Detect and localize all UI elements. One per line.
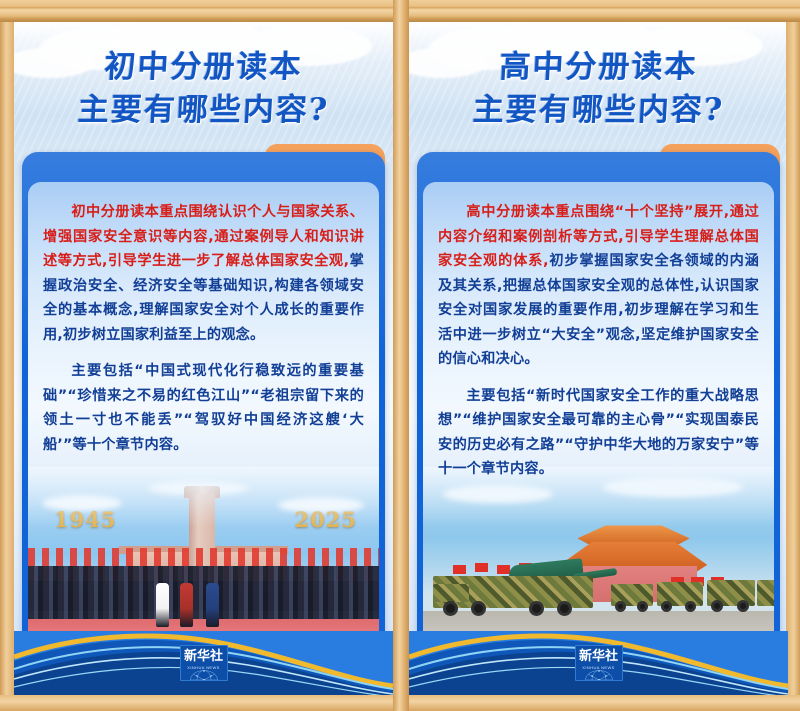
xinhua-logo-cn: 新华社 (181, 649, 227, 665)
paragraph-2: 主要包括“中国式现代化行稳致远的重要基础”“珍惜来之不易的红色江山”“老祖宗留下… (43, 359, 364, 457)
paragraph-1: 高中分册读本重点围绕“十个坚持”展开,通过内容介绍和案例剖析等方式,引导学生理解… (438, 200, 759, 372)
paragraph-1-red: 初中分册读本重点围绕认识个人与国家关系、增强国家安全意识等内容,通过案例导人和知… (43, 204, 364, 269)
honor-guard-blue (206, 583, 219, 627)
poster-root: 初中分册读本 主要有哪些内容? (0, 0, 800, 711)
body-text-senior: 高中分册读本重点围绕“十个坚持”展开,通过内容介绍和案例剖析等方式,引导学生理解… (423, 182, 774, 482)
cloud-icon (42, 495, 122, 511)
body-text-junior: 初中分册读本重点围绕认识个人与国家关系、增强国家安全意识等内容,通过案例导人和知… (28, 182, 379, 457)
frame-left-edge (0, 0, 14, 711)
title-line-1: 初中分册读本 (14, 46, 393, 89)
card-sheet: 1945 2025 初中分册读本重点围绕认识个人与国家关系、增强国家安全意识等内… (28, 182, 379, 670)
monument-cap (184, 486, 220, 498)
cloud-icon (148, 481, 248, 495)
card-blue-body: 1945 2025 初中分册读本重点围绕认识个人与国家关系、增强国家安全意识等内… (22, 152, 385, 670)
year-label-end: 2025 (295, 507, 357, 532)
title-line-2: 主要有哪些内容? (14, 89, 393, 132)
title-line-1: 高中分册读本 (409, 46, 788, 89)
frame-divider (393, 0, 409, 711)
red-flag-icon (453, 565, 466, 574)
honor-guard-white (156, 583, 169, 627)
wave-decoration-left: 新华社 XINHUA NEWS (14, 631, 393, 695)
globe-icon (584, 669, 614, 681)
title-line-2: 主要有哪些内容? (409, 89, 788, 132)
panel-junior-high: 初中分册读本 主要有哪些内容? (14, 22, 393, 695)
cloud-icon (443, 485, 553, 503)
card-blue-body: 高中分册读本重点围绕“十个坚持”展开,通过内容介绍和案例剖析等方式,引导学生理解… (417, 152, 780, 670)
page-title-senior: 高中分册读本 主要有哪些内容? (409, 46, 788, 132)
red-flag-icon (497, 565, 510, 574)
year-label-start: 1945 (54, 507, 116, 532)
honor-guard-navy (180, 583, 193, 627)
paragraph-1-blue: 初步掌握国家安全各领域的内涵及其关系,把握总体国家安全观的总体性,认识国家安全对… (438, 253, 759, 367)
content-card-senior: 高中分册读本重点围绕“十个坚持”展开,通过内容介绍和案例剖析等方式,引导学生理解… (417, 144, 780, 674)
cloud-icon (278, 497, 364, 513)
page-title-junior: 初中分册读本 主要有哪些内容? (14, 46, 393, 132)
xinhua-logo-left: 新华社 XINHUA NEWS (180, 645, 228, 681)
wave-decoration-right: 新华社 XINHUA NEWS (409, 631, 788, 695)
convoy-truck (757, 580, 774, 606)
paragraph-2: 主要包括“新时代国家安全工作的重大战略思想”“维护国家安全最可靠的主心骨”“实现… (438, 384, 759, 482)
globe-icon (189, 669, 219, 681)
xinhua-logo-right: 新华社 XINHUA NEWS (575, 645, 623, 681)
frame-right-edge (786, 0, 800, 711)
xinhua-logo-cn: 新华社 (576, 649, 622, 665)
red-flag-icon (475, 563, 488, 572)
paragraph-1: 初中分册读本重点围绕认识个人与国家关系、增强国家安全意识等内容,通过案例导人和知… (43, 200, 364, 347)
panel-senior-high: 高中分册读本 主要有哪些内容? (409, 22, 788, 695)
card-sheet: 高中分册读本重点围绕“十个坚持”展开,通过内容介绍和案例剖析等方式,引导学生理解… (423, 182, 774, 670)
truck-cab (433, 584, 469, 602)
content-card-junior: 1945 2025 初中分册读本重点围绕认识个人与国家关系、增强国家安全意识等内… (22, 144, 385, 674)
